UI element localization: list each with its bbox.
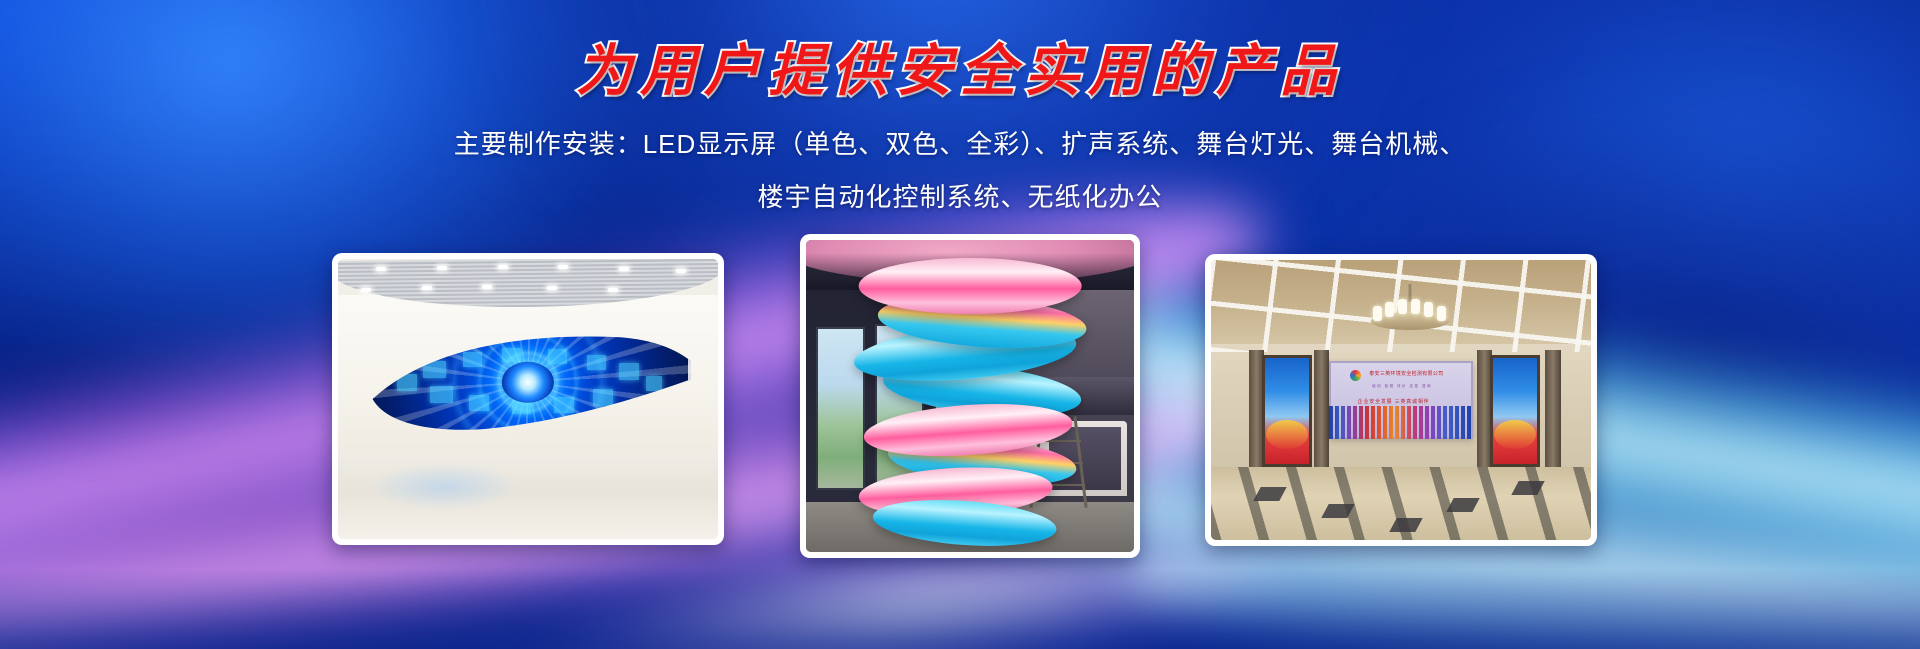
banner-subline-1: 主要制作安装：LED显示屏（单色、双色、全彩）、扩声系统、舞台灯光、舞台机械、 <box>0 124 1920 161</box>
screen-slogan: 企业安全发展 三英真诚相伴 <box>1358 398 1430 405</box>
led-pillar-screen-left <box>1262 355 1311 467</box>
skyline-graphic <box>1329 406 1473 439</box>
screen-services: 培训 检测 评价 应急 咨询 <box>1372 384 1432 389</box>
banner-stage: 为用户提供安全实用的产品 主要制作安装：LED显示屏（单色、双色、全彩）、扩声系… <box>0 0 1920 649</box>
company-logo-icon <box>1350 370 1361 381</box>
banner-subline-2: 楼宇自动化控制系统、无纸化办公 <box>0 177 1920 214</box>
led-pillar-screen-right <box>1490 355 1539 467</box>
screen-company-name: 泰安三英环境安全检测有限公司 <box>1369 370 1443 377</box>
banner-headline: 为用户提供安全实用的产品 <box>0 26 1920 107</box>
photo-spiral-led <box>806 240 1134 552</box>
photo-card-eye-led[interactable] <box>332 253 724 545</box>
spiral-led-screen <box>849 246 1092 546</box>
photo-card-spiral-led[interactable] <box>800 234 1140 558</box>
photo-eye-led <box>338 259 718 539</box>
photo-card-hall-led[interactable]: 泰安三英环境安全检测有限公司 培训 检测 评价 应急 咨询 企业安全发展 三英真… <box>1205 254 1597 546</box>
chandelier <box>1371 294 1449 340</box>
main-led-screen: 泰安三英环境安全检测有限公司 培训 检测 评价 应急 咨询 企业安全发展 三英真… <box>1329 361 1473 439</box>
photo-hall-led: 泰安三英环境安全检测有限公司 培训 检测 评价 应急 咨询 企业安全发展 三英真… <box>1211 260 1591 540</box>
bottom-vignette <box>0 569 1920 649</box>
